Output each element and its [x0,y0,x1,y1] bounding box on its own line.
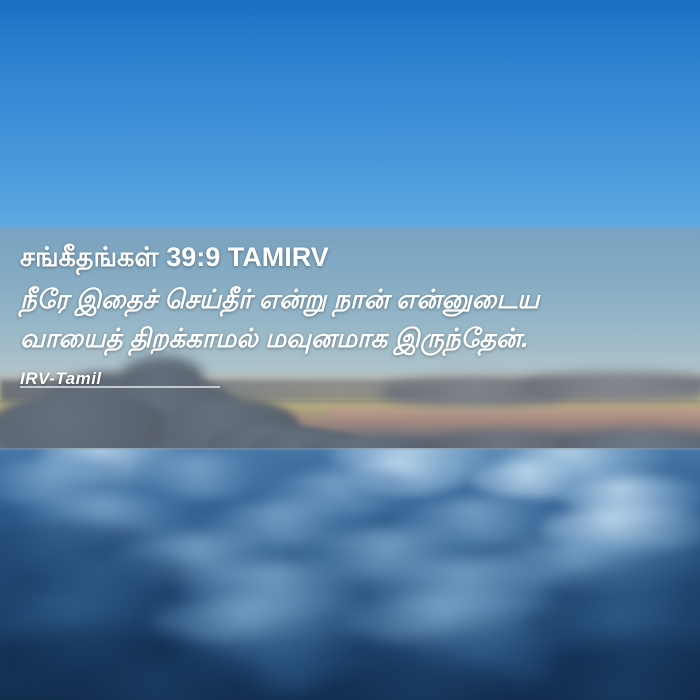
verse-line: வாயைத் திறக்காமல் மவுனமாக இருந்தேன். [20,319,680,359]
verse-image-canvas: சங்கீதங்கள் 39:9 TAMIRV நீரே இதைச் செய்த… [0,0,700,700]
verse-line: நீரே இதைச் செய்தீர் என்று நான் என்னுடைய [20,280,680,320]
verse-body: நீரே இதைச் செய்தீர் என்று நான் என்னுடைய … [20,280,680,359]
verse-text-block: சங்கீதங்கள் 39:9 TAMIRV நீரே இதைச் செய்த… [0,228,700,450]
verse-reference: சங்கீதங்கள் 39:9 TAMIRV [20,242,680,274]
attribution-underline [20,386,220,388]
cloud-sea [0,448,700,700]
